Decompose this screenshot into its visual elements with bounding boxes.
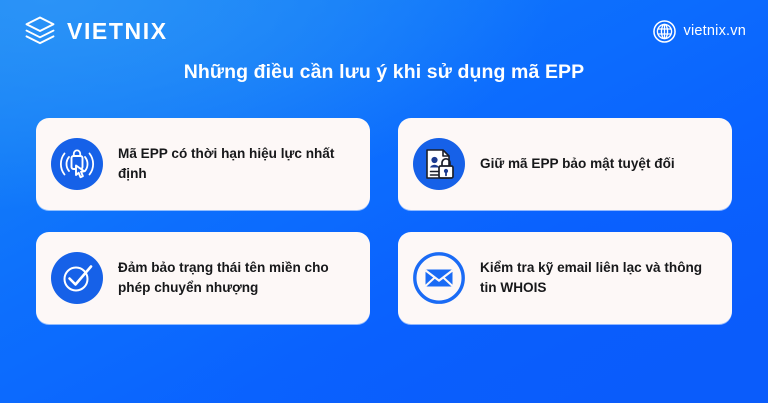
tip-card-2[interactable]: Giữ mã EPP bảo mật tuyệt đối [398, 118, 732, 210]
tip-card-3-text: Đảm bảo trạng thái tên miền cho phép chu… [118, 258, 354, 297]
click-hand-pointer-icon [50, 137, 104, 191]
promo-banner: VIETNIX vietnix.vn Những điều cần lưu ý … [0, 0, 768, 403]
tip-card-4-text: Kiểm tra kỹ email liên lạc và thông tin … [480, 258, 716, 297]
site-url[interactable]: vietnix.vn [653, 20, 746, 43]
stacked-layers-icon [22, 13, 58, 49]
email-envelope-circle-icon [412, 251, 466, 305]
globe-icon [653, 20, 676, 43]
tip-card-1-text: Mã EPP có thời hạn hiệu lực nhất định [118, 144, 354, 183]
tip-card-3[interactable]: Đảm bảo trạng thái tên miền cho phép chu… [36, 232, 370, 324]
tip-card-2-text: Giữ mã EPP bảo mật tuyệt đối [480, 154, 675, 174]
page-title: Những điều cần lưu ý khi sử dụng mã EPP [0, 60, 768, 85]
tip-card-4[interactable]: Kiểm tra kỹ email liên lạc và thông tin … [398, 232, 732, 324]
document-lock-icon [412, 137, 466, 191]
site-name-label: vietnix.vn [684, 24, 746, 39]
banner-header: VIETNIX vietnix.vn [0, 0, 768, 62]
check-circle-icon [50, 251, 104, 305]
brand-logo: VIETNIX [22, 13, 168, 49]
tip-card-1[interactable]: Mã EPP có thời hạn hiệu lực nhất định [36, 118, 370, 210]
brand-name: VIETNIX [67, 20, 168, 43]
tips-grid: Mã EPP có thời hạn hiệu lực nhất định [36, 118, 732, 324]
